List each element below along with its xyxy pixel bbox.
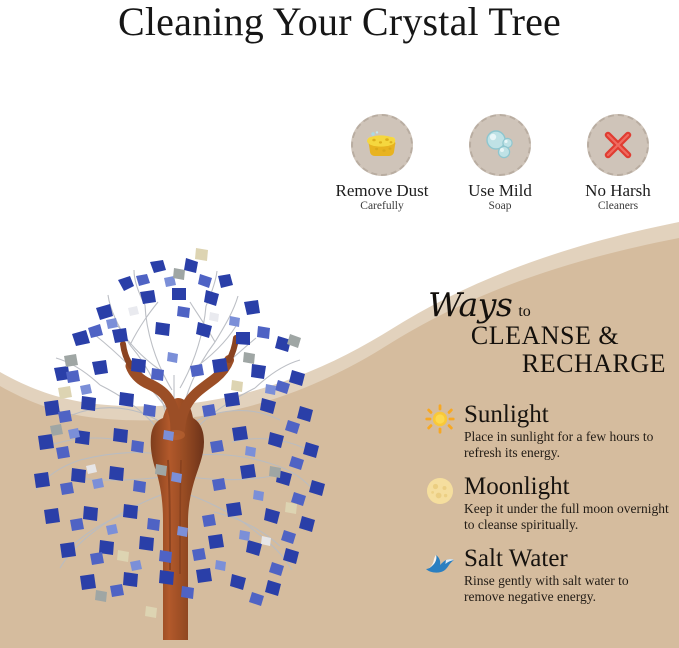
method-text: Moonlight Keep it under the full moon ov… [458, 474, 669, 534]
care-tip-title: Remove Dust [335, 182, 428, 200]
infographic-canvas: Cleaning Your Crystal Tree [0, 0, 679, 648]
method-sunlight: Sunlight Place in sunlight for a few hou… [422, 402, 678, 462]
care-icon-circle [469, 114, 531, 176]
method-description: Place in sunlight for a few hours to ref… [464, 429, 669, 462]
method-icon-wrap [422, 546, 458, 584]
heading-connector: to [518, 304, 530, 320]
care-tips-row: Remove Dust Carefully Use Mild Soap [330, 114, 670, 224]
method-moonlight: Moonlight Keep it under the full moon ov… [422, 474, 678, 534]
full-moon-icon [425, 476, 455, 506]
sponge-icon [365, 130, 399, 160]
care-tip-remove-dust: Remove Dust Carefully [330, 114, 434, 224]
blue-lapis-crystal-tree [0, 130, 360, 640]
cleanse-methods-list: Sunlight Place in sunlight for a few hou… [422, 402, 678, 618]
method-text: Sunlight Place in sunlight for a few hou… [458, 402, 669, 462]
care-tip-use-mild-soap: Use Mild Soap [448, 114, 552, 224]
method-description: Rinse gently with salt water to remove n… [464, 573, 669, 606]
care-tip-subtitle: Soap [489, 200, 512, 213]
care-tip-title: Use Mild [468, 182, 532, 200]
sun-icon [425, 404, 455, 434]
red-x-icon [602, 129, 634, 161]
heading-line-recharge: RECHARGE [420, 350, 670, 378]
method-description: Keep it under the full moon overnight to… [464, 501, 669, 534]
care-tip-no-harsh-cleaners: No Harsh Cleaners [566, 114, 670, 224]
care-tip-subtitle: Carefully [360, 200, 403, 213]
method-name: Sunlight [464, 402, 669, 427]
method-icon-wrap [422, 474, 458, 512]
method-name: Salt Water [464, 546, 669, 571]
method-icon-wrap [422, 402, 458, 440]
care-icon-circle [587, 114, 649, 176]
method-salt-water: Salt Water Rinse gently with salt water … [422, 546, 678, 606]
care-icon-circle [351, 114, 413, 176]
care-tip-subtitle: Cleaners [598, 200, 638, 213]
wave-icon [425, 548, 455, 578]
heading-line-cleanse: CLEANSE & [420, 322, 670, 350]
method-name: Moonlight [464, 474, 669, 499]
page-title: Cleaning Your Crystal Tree [0, 0, 679, 45]
care-tip-title: No Harsh [585, 182, 651, 200]
method-text: Salt Water Rinse gently with salt water … [458, 546, 669, 606]
heading-script-word: Ways [428, 288, 512, 321]
ways-to-cleanse-heading: Ways to CLEANSE & RECHARGE [420, 288, 670, 378]
bubbles-icon [483, 128, 517, 162]
